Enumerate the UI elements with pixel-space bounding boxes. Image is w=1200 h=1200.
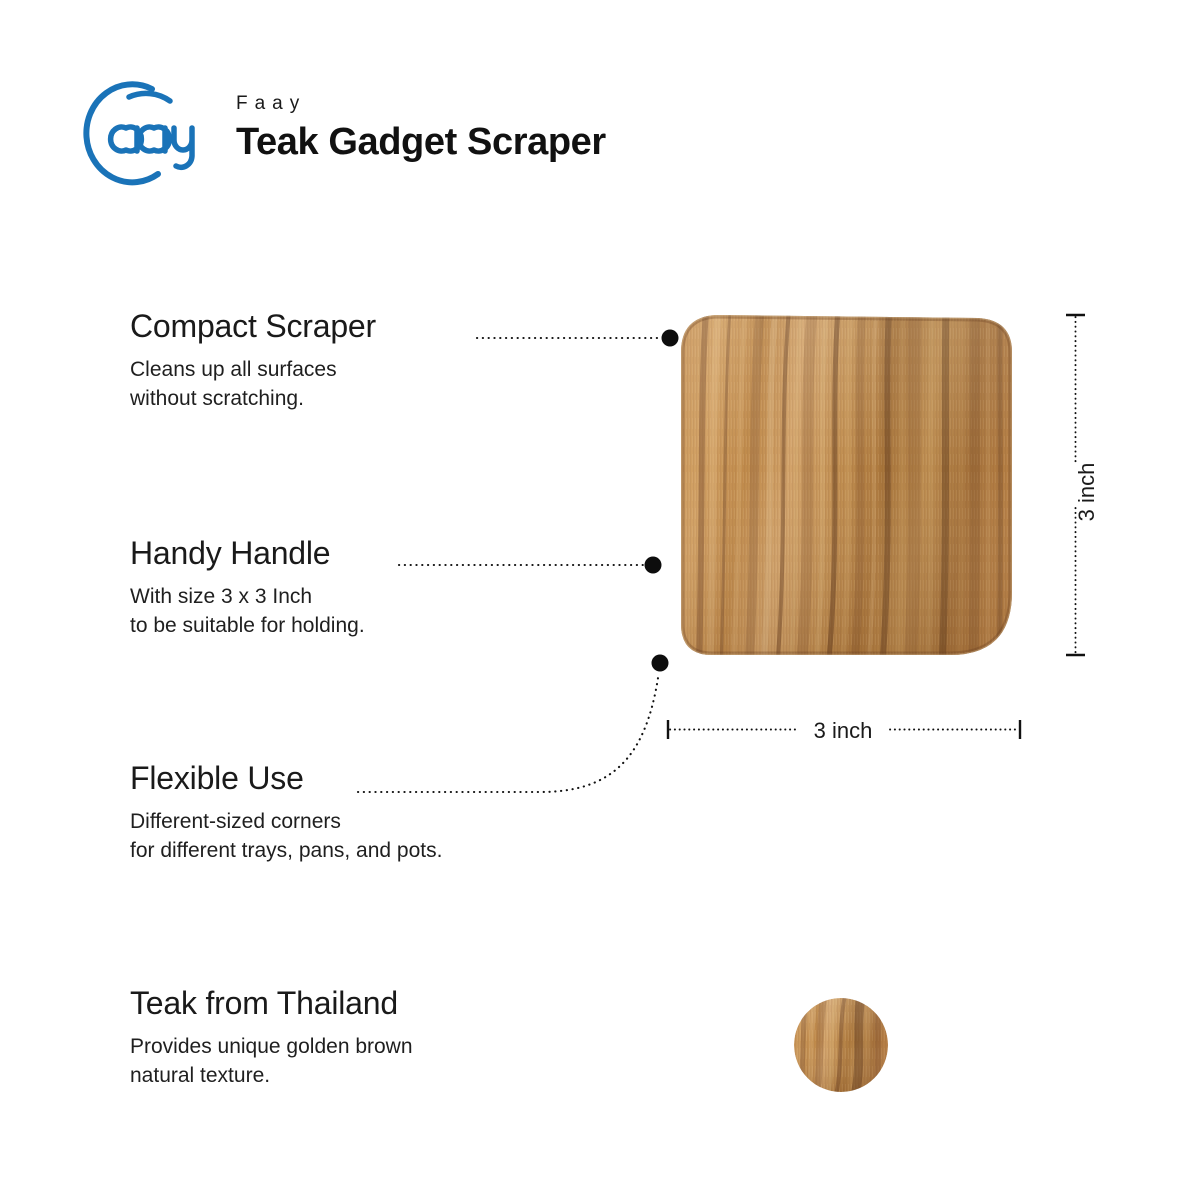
- feature-description: Provides unique golden brown natural tex…: [130, 1032, 413, 1092]
- faay-aay-circle-logo: [74, 76, 196, 190]
- infographic-page: Faay Teak Gadget Scraper Compact Scraper…: [0, 0, 1200, 1200]
- feature-title: Flexible Use: [130, 762, 442, 796]
- dimension-label-horizontal: 3 inch: [814, 718, 873, 743]
- dimension-label-vertical: 3 inch: [1074, 463, 1099, 522]
- brand-name: Faay: [236, 93, 306, 115]
- feature-title: Compact Scraper: [130, 310, 376, 344]
- feature-title: Handy Handle: [130, 537, 365, 571]
- product-image-teak-scraper: [670, 305, 1025, 670]
- feature-flexible-use: Flexible Use Different-sized corners for…: [130, 762, 442, 866]
- leader-compact-scraper: [477, 330, 679, 347]
- feature-title: Teak from Thailand: [130, 987, 413, 1021]
- feature-compact-scraper: Compact Scraper Cleans up all surfaces w…: [130, 310, 376, 414]
- leader-handy-handle: [399, 557, 662, 574]
- dimension-line-horizontal: 3 inch: [668, 718, 1020, 743]
- callout-dot: [645, 557, 662, 574]
- teak-wood-color-swatch: [794, 995, 888, 1095]
- feature-description: Different-sized corners for different tr…: [130, 807, 442, 867]
- callout-dot: [662, 330, 679, 347]
- feature-description: With size 3 x 3 Inch to be suitable for …: [130, 582, 365, 642]
- feature-description: Cleans up all surfaces without scratchin…: [130, 355, 376, 415]
- callout-dot: [652, 655, 669, 672]
- feature-handy-handle: Handy Handle With size 3 x 3 Inch to be …: [130, 537, 365, 641]
- feature-teak-from-thailand: Teak from Thailand Provides unique golde…: [130, 987, 413, 1091]
- page-title: Teak Gadget Scraper: [236, 121, 606, 164]
- dimension-line-vertical: 3 inch: [1066, 315, 1099, 655]
